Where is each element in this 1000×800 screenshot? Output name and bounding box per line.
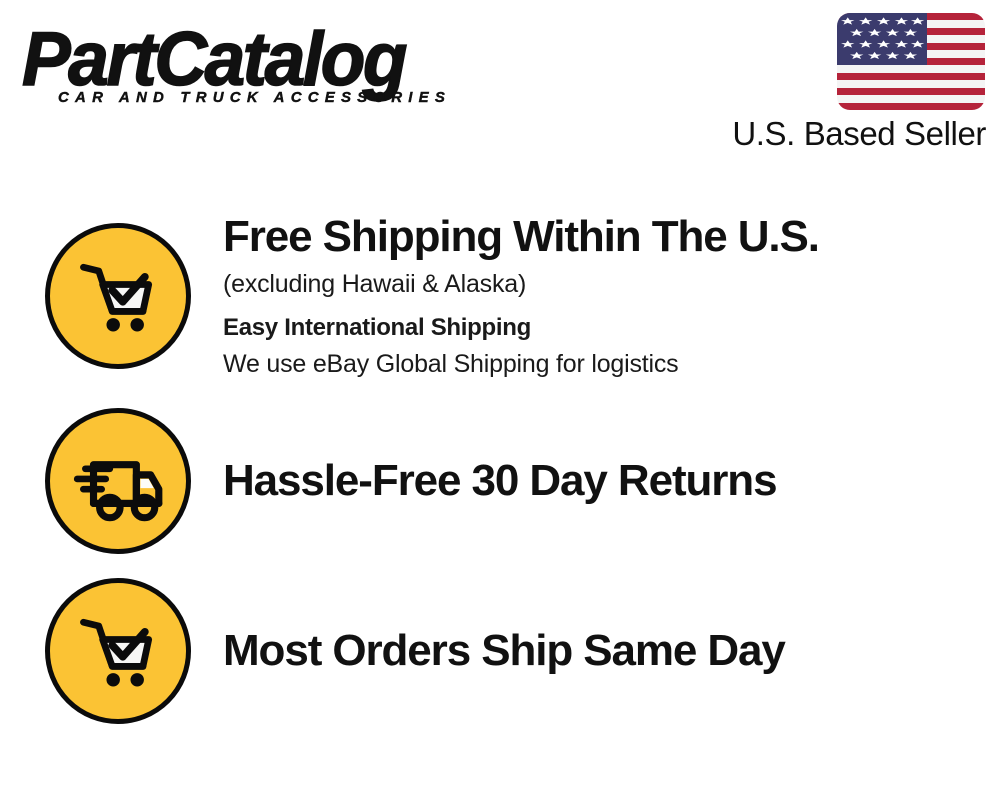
feature-subnote: (excluding Hawaii & Alaska)	[223, 266, 980, 302]
feature-row: Free Shipping Within The U.S. (excluding…	[0, 196, 1000, 396]
delivery-truck-icon	[45, 408, 191, 554]
feature-row: Most Orders Ship Same Day	[0, 566, 1000, 736]
shopping-cart-check-icon	[45, 578, 191, 724]
feature-text: Free Shipping Within The U.S. (excluding…	[191, 210, 1000, 382]
feature-text: Hassle-Free 30 Day Returns	[191, 454, 1000, 508]
promo-banner: PartCatalog CAR AND TRUCK ACCESSORIES	[0, 0, 1000, 800]
feature-subheading: Easy International Shipping	[223, 310, 980, 346]
us-based-seller-label: U.S. Based Seller	[716, 114, 986, 154]
brand-logo: PartCatalog CAR AND TRUCK ACCESSORIES	[22, 22, 492, 117]
feature-text: Most Orders Ship Same Day	[191, 624, 1000, 678]
flag-canton	[837, 13, 927, 65]
feature-list: Free Shipping Within The U.S. (excluding…	[0, 196, 1000, 736]
brand-tagline: CAR AND TRUCK ACCESSORIES	[58, 90, 451, 105]
us-flag-icon	[837, 13, 985, 110]
shopping-cart-check-icon	[45, 223, 191, 369]
feature-heading: Most Orders Ship Same Day	[223, 624, 980, 678]
feature-heading: Free Shipping Within The U.S.	[223, 210, 980, 264]
us-based-seller-badge: U.S. Based Seller	[716, 12, 986, 162]
feature-subdetail: We use eBay Global Shipping for logistic…	[223, 346, 980, 382]
feature-row: Hassle-Free 30 Day Returns	[0, 396, 1000, 566]
feature-heading: Hassle-Free 30 Day Returns	[223, 454, 980, 508]
banner-header: PartCatalog CAR AND TRUCK ACCESSORIES	[0, 0, 1000, 180]
brand-wordmark: PartCatalog	[22, 22, 473, 98]
